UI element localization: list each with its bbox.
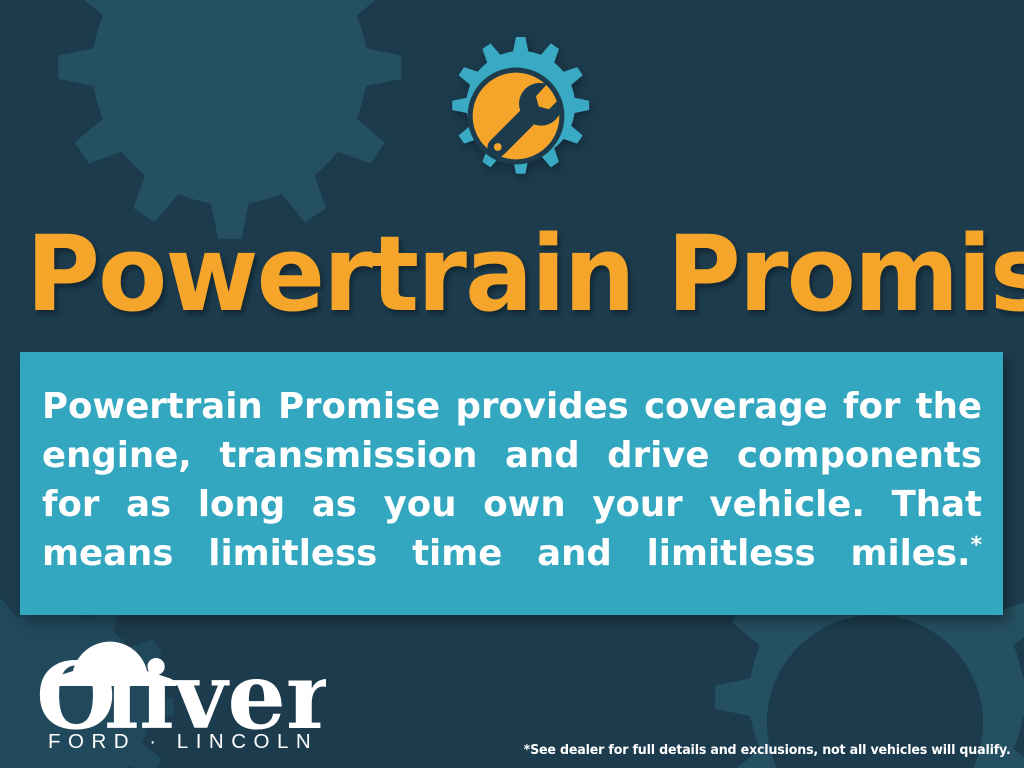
page-title: Powertrain Promise — [26, 222, 977, 326]
promise-panel: Powertrain Promise provides coverage for… — [20, 352, 1003, 615]
oliver-wordmark: O liver — [26, 638, 326, 734]
dealer-logo: O liver FORD · LINCOLN — [26, 638, 326, 760]
gear-wrench-icon — [431, 30, 601, 202]
svg-text:liver: liver — [104, 642, 326, 734]
promise-body-sentence: Powertrain Promise provides coverage for… — [42, 386, 982, 574]
dealer-subtitle: FORD · LINCOLN — [48, 730, 318, 754]
asterisk-marker: * — [970, 533, 982, 558]
promise-body-text: Powertrain Promise provides coverage for… — [42, 382, 982, 627]
disclaimer-text: *See dealer for full details and exclusi… — [524, 742, 1011, 758]
poster-canvas: Powertrain Promise Powertrain Promise pr… — [0, 0, 1024, 768]
